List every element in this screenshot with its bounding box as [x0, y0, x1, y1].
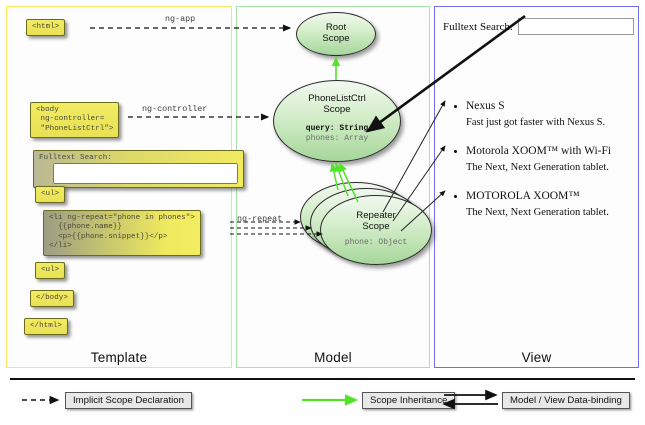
view-phone-name: MOTOROLA XOOM™	[466, 190, 580, 202]
code-ul-open: <ul>	[35, 186, 65, 203]
scope-root-title1: Root	[326, 22, 346, 33]
legend-divider	[10, 378, 635, 380]
bullet-icon	[454, 105, 457, 108]
panel-model-label: Model	[237, 350, 429, 365]
code-html-open: <html>	[26, 19, 65, 36]
scope-repeater-prop-phone: phone: Object	[321, 238, 431, 248]
view-phone-snippet: The Next, Next Generation tablet.	[466, 162, 609, 173]
panel-view-label: View	[435, 350, 638, 365]
view-phone-snippet: Fast just got faster with Nexus S.	[466, 117, 605, 128]
bullet-icon	[454, 195, 457, 198]
diagram-canvas: Template Model View <html> <body ng-cont…	[0, 0, 645, 425]
code-search-input: Fulltext Search:	[33, 150, 244, 188]
view-search-label: Fulltext Search:	[443, 21, 513, 33]
scope-repeater-title2: Scope	[362, 221, 389, 232]
legend-label: Implicit Scope Declaration	[65, 392, 192, 409]
panel-template-label: Template	[7, 350, 231, 365]
view-search-row: Fulltext Search:	[443, 18, 634, 35]
view-phone-name: Motorola XOOM™ with Wi-Fi	[466, 145, 611, 157]
scope-root-title2: Scope	[322, 33, 349, 44]
scope-repeater-title1: Repeater	[356, 210, 395, 221]
code-body-open: <body ng-controller= "PhoneListCtrl">	[30, 102, 119, 138]
scope-repeater: Repeater Scope phone: Object	[320, 195, 432, 265]
view-content: Fulltext Search: Nexus S Fast just got f…	[440, 12, 635, 342]
view-phone-snippet: The Next, Next Generation tablet.	[466, 207, 609, 218]
edge-label-ng-controller: ng-controller	[142, 104, 207, 114]
code-ul-close: <ul>	[35, 262, 65, 279]
code-body-close: </body>	[30, 290, 74, 307]
code-html-close: </html>	[24, 318, 68, 335]
scope-ctrl-prop-query: query: String	[274, 124, 400, 134]
scope-ctrl-prop-phones: phones: Array	[274, 134, 400, 144]
code-li-repeat: <li ng-repeat="phone in phones"> {{phone…	[43, 210, 201, 256]
view-search-input[interactable]	[518, 18, 634, 35]
view-phone-name: Nexus S	[466, 100, 505, 112]
edge-label-ng-repeat: ng-repeat	[237, 214, 282, 224]
scope-phonelistctrl: PhoneListCtrl Scope query: String phones…	[273, 80, 401, 162]
edge-label-ng-app: ng-app	[165, 14, 195, 24]
bullet-icon	[454, 150, 457, 153]
scope-root: Root Scope	[296, 12, 376, 56]
scope-ctrl-title1: PhoneListCtrl	[308, 93, 366, 104]
legend-label: Scope Inheritance	[362, 392, 455, 409]
scope-ctrl-title2: Scope	[323, 104, 350, 115]
legend-label: Model / View Data-binding	[502, 392, 630, 409]
